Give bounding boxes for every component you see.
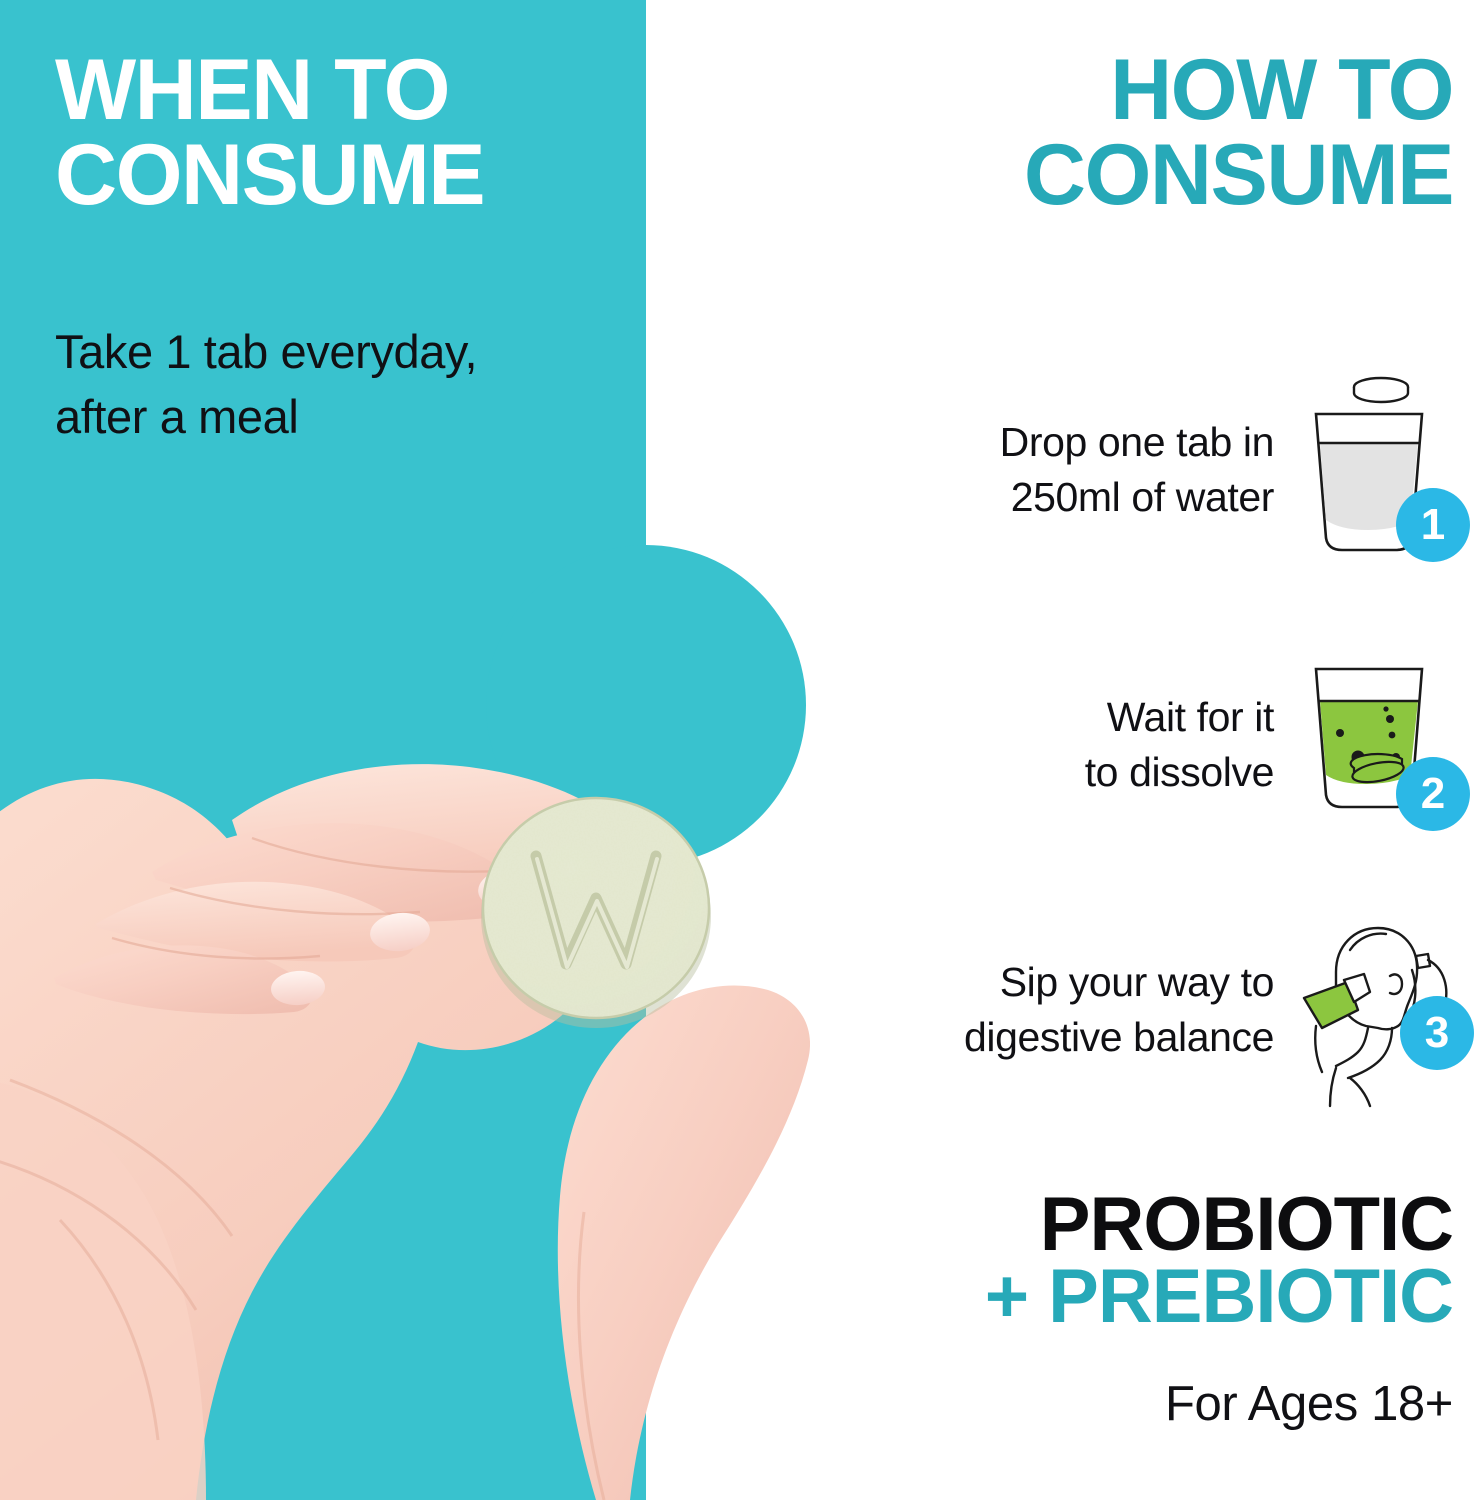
hand-holding-tablet-photo <box>0 520 810 1500</box>
ear <box>1390 974 1402 994</box>
brand-prebiotic-text: + PREBIOTIC <box>985 1261 1453 1332</box>
chest-line <box>1330 1068 1336 1106</box>
thumb <box>558 986 810 1500</box>
step-3-art: 3 <box>1292 910 1460 1110</box>
step-2-line-2: to dissolve <box>1085 745 1274 800</box>
heading-line-2: CONSUME <box>55 133 635 218</box>
when-to-consume-subtext: Take 1 tab everyday, after a meal <box>55 320 625 450</box>
step-1-text: Drop one tab in 250ml of water <box>1000 415 1292 524</box>
how-to-consume-heading: HOW TO CONSUME <box>1024 48 1453 218</box>
when-to-consume-heading: WHEN TO CONSUME <box>55 48 635 218</box>
step-1: Drop one tab in 250ml of water <box>926 370 1460 570</box>
step-1-line-2: 250ml of water <box>1000 470 1274 525</box>
hairline <box>1350 934 1386 950</box>
step-2-number: 2 <box>1421 772 1445 816</box>
step-3-badge: 3 <box>1400 996 1474 1070</box>
step-2-line-1: Wait for it <box>1085 690 1274 745</box>
jawline <box>1336 1028 1368 1066</box>
neck <box>1348 1028 1392 1078</box>
brand-probiotic-text: PROBIOTIC <box>985 1189 1453 1260</box>
step-1-art: 1 <box>1292 370 1460 570</box>
step-1-line-1: Drop one tab in <box>1000 415 1274 470</box>
step-2: Wait for it to dissolve <box>1016 645 1460 845</box>
heading-line-1: WHEN TO <box>55 48 635 133</box>
subtext-line-1: Take 1 tab everyday, <box>55 320 625 385</box>
right-heading-line-1: HOW TO <box>1024 48 1453 133</box>
step-3: Sip your way to digestive balance <box>901 910 1460 1110</box>
subtext-line-2: after a meal <box>55 385 625 450</box>
step-3-text: Sip your way to digestive balance <box>964 955 1292 1064</box>
step-3-number: 3 <box>1425 1011 1449 1055</box>
shoulder-line <box>1350 1078 1370 1106</box>
step-1-number: 1 <box>1421 503 1445 547</box>
step-3-line-2: digestive balance <box>964 1010 1274 1065</box>
step-2-art: 2 <box>1292 645 1460 845</box>
right-heading-line-2: CONSUME <box>1024 133 1453 218</box>
step-2-badge: 2 <box>1396 757 1470 831</box>
step-3-line-1: Sip your way to <box>964 955 1274 1010</box>
step-2-text: Wait for it to dissolve <box>1085 690 1292 799</box>
brand-lockup: PROBIOTIC + PREBIOTIC <box>985 1189 1453 1332</box>
step-1-badge: 1 <box>1396 488 1470 562</box>
tablet-above-glass-icon <box>1354 378 1408 402</box>
infographic-page: WHEN TO CONSUME Take 1 tab everyday, aft… <box>0 0 1475 1500</box>
for-ages-text: For Ages 18+ <box>1165 1376 1453 1432</box>
